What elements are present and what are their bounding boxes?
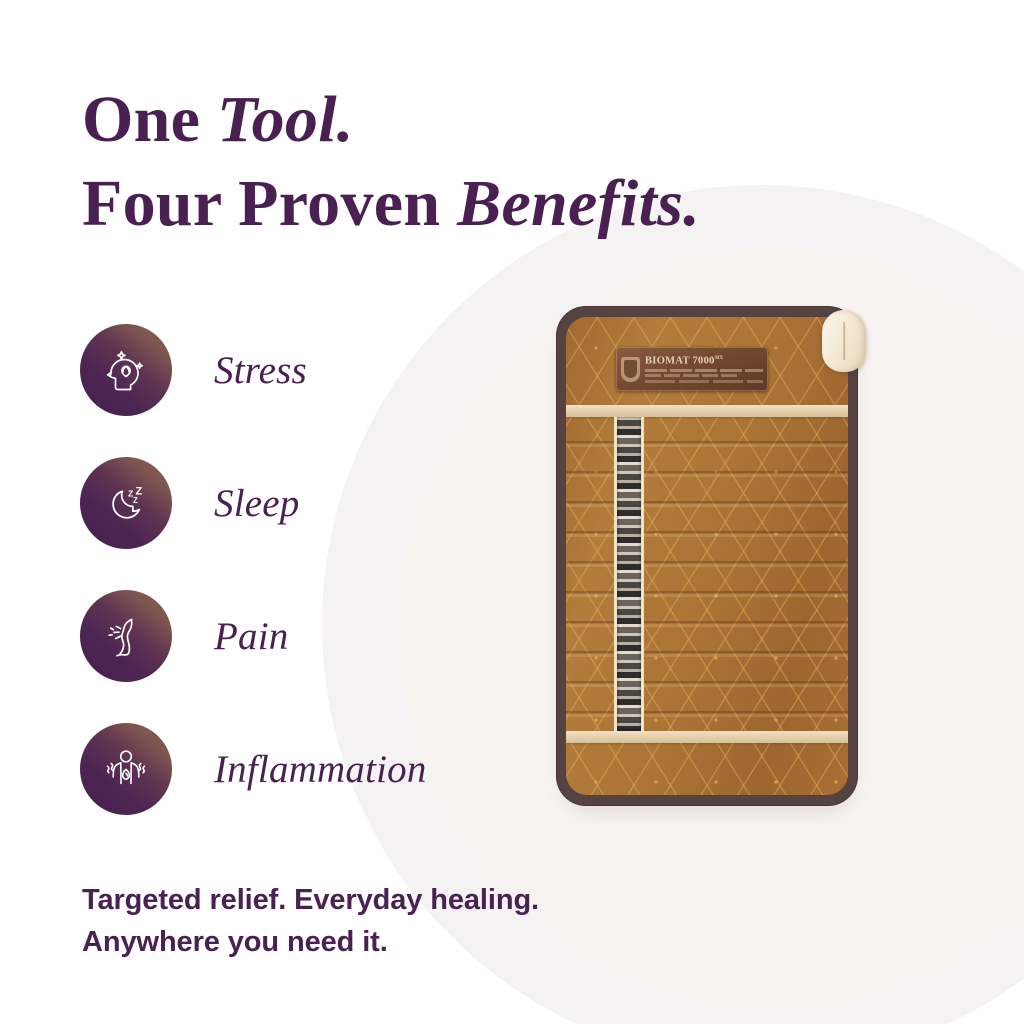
svg-text:Z: Z	[133, 496, 138, 505]
head-lotus-icon	[80, 324, 172, 416]
shield-logo-icon	[621, 357, 640, 382]
benefit-label-stress: Stress	[214, 348, 307, 393]
product-label-plaque: BIOMAT 7000MX	[616, 347, 768, 391]
benefits-list: Stress Z Z Z Sleep	[80, 322, 500, 817]
moon-zzz-icon: Z Z Z	[80, 457, 172, 549]
benefit-label-inflammation: Inflammation	[214, 747, 427, 792]
product-label-fineprint-1	[645, 369, 763, 372]
promo-canvas: One Tool. Four Proven Benefits. Stress	[0, 0, 1024, 1024]
leg-pain-icon	[80, 590, 172, 682]
mat-fabric: BIOMAT 7000MX	[566, 317, 848, 795]
tagline-line-1: Targeted relief. Everyday healing.	[82, 879, 539, 921]
product-label-suffix: MX	[715, 356, 723, 361]
product-mat: BIOMAT 7000MX	[556, 306, 858, 806]
product-label-title-main: BIOMAT 7000	[645, 355, 715, 366]
mat-border: BIOMAT 7000MX	[556, 306, 858, 806]
headline-line-2: Four Proven Benefits.	[82, 162, 700, 246]
benefit-item-inflammation: Inflammation	[80, 721, 500, 817]
product-label-fineprint-3	[645, 380, 763, 383]
benefit-item-pain: Pain	[80, 588, 500, 684]
amethyst-stone-strip	[614, 417, 644, 731]
product-label-title: BIOMAT 7000MX	[645, 356, 763, 367]
tagline-line-2: Anywhere you need it.	[82, 921, 539, 963]
benefit-label-pain: Pain	[214, 614, 288, 659]
headline-line-1: One Tool.	[82, 78, 700, 162]
page-title: One Tool. Four Proven Benefits.	[82, 78, 700, 246]
controller-pod-icon	[822, 310, 866, 372]
benefit-item-sleep: Z Z Z Sleep	[80, 455, 500, 551]
tagline: Targeted relief. Everyday healing. Anywh…	[82, 879, 539, 963]
product-label-text: BIOMAT 7000MX	[645, 356, 763, 383]
headline-line-2-plain: Four Proven	[82, 167, 457, 240]
headline-line-2-emphasis: Benefits.	[457, 167, 700, 240]
mat-band-bottom	[566, 731, 848, 743]
headline-line-1-plain: One	[82, 83, 217, 156]
product-label-fineprint-2	[645, 374, 737, 377]
benefit-label-sleep: Sleep	[214, 481, 299, 526]
mat-quilted-tubes	[566, 415, 848, 732]
mat-band-top	[566, 405, 848, 417]
benefit-item-stress: Stress	[80, 322, 500, 418]
body-flame-icon	[80, 723, 172, 815]
headline-line-1-emphasis: Tool.	[217, 83, 354, 156]
